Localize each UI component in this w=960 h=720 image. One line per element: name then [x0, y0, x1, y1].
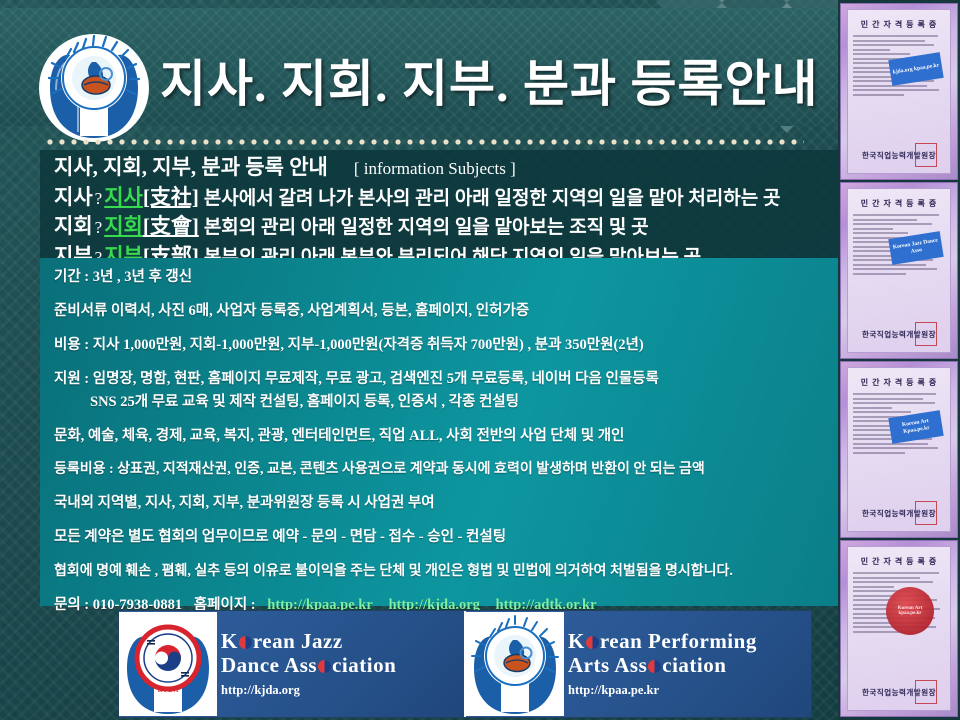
certificate-seal-icon	[915, 322, 937, 346]
bottom-logo-banner: K J D A Krean Jazz Dance Assciation http…	[118, 610, 812, 718]
detail-business-right: 국내외 지역별, 지사, 지회, 지부, 분과위원장 등록 시 사업권 부여	[54, 494, 828, 512]
kjda-line1: Krean Jazz	[221, 630, 396, 654]
definition-keyword: 지회	[104, 214, 143, 238]
definition-hanja: [支社]	[143, 185, 204, 209]
definition-question-mark: ?	[93, 218, 105, 237]
stylised-o-icon	[239, 636, 252, 649]
kpaa-line1: Krean Performing	[568, 630, 757, 654]
header-banner: 지사. 지회. 지부. 분과 등록안내	[0, 8, 840, 126]
banner-kpaa[interactable]: Krean Performing Arts Assciation http://…	[464, 611, 811, 717]
certificate-heading: 민 간 자 격 등 록 증	[853, 198, 945, 209]
kjda-line1-b: rean Jazz	[253, 629, 343, 653]
definition-hanja: [支會]	[143, 214, 204, 238]
detail-period: 기간 : 3년 , 3년 후 갱신	[54, 268, 828, 286]
certificate-heading: 민 간 자 격 등 록 증	[853, 556, 945, 567]
definition-row-jisa: 지사?지사[支社]본사에서 갈려 나가 본사의 관리 아래 일정한 지역의 일을…	[54, 183, 830, 213]
certificate-thumbnail-1[interactable]: 민 간 자 격 등 록 증 kjda.org kpaa.pe.kr 한국직업능력…	[840, 3, 958, 180]
kjda-line1-a: K	[221, 629, 238, 653]
certificate-seal-icon	[915, 143, 937, 167]
intro-block: 지사, 지회, 지부, 분과 등록 안내[ information Subjec…	[40, 150, 840, 276]
kpaa-line2-b: ciation	[662, 653, 726, 677]
definition-term: 지사	[54, 185, 93, 209]
svg-text:K J D A: K J D A	[158, 688, 179, 694]
kjda-line2-b: ciation	[332, 653, 396, 677]
kpaa-emblem-icon	[466, 612, 564, 716]
certificate-body: 민 간 자 격 등 록 증 kjda.org kpaa.pe.kr 한국직업능력…	[847, 9, 951, 174]
definition-term: 지회	[54, 214, 93, 238]
certificate-heading: 민 간 자 격 등 록 증	[853, 19, 945, 30]
stylised-o-icon	[648, 660, 661, 673]
stylised-o-icon	[586, 636, 599, 649]
kpaa-text: Krean Performing Arts Assciation http://…	[564, 630, 757, 698]
certificate-body: 민 간 자 격 등 록 증 Korean Jazz Dance Asso 한국직…	[847, 188, 951, 353]
detail-legal-notice: 협회에 명예 훼손 , 폄훼, 실추 등의 이유로 불이익을 주는 단체 및 개…	[54, 563, 828, 581]
detail-support-line1: 지원 : 임명장, 명함, 현판, 홈페이지 무료제작, 무료 광고, 검색엔진…	[54, 370, 828, 388]
stylised-o-icon	[318, 660, 331, 673]
detail-cost: 비용 : 지사 1,000만원, 지회-1,000만원, 지부-1,000만원(…	[54, 336, 828, 354]
detail-support-line2: SNS 25개 무료 교육 및 제작 컨설팅, 홈페이지 등록, 인증서 , 각…	[54, 393, 828, 411]
intro-heading: 지사, 지회, 지부, 분과 등록 안내[ information Subjec…	[54, 153, 830, 183]
kjda-text: Krean Jazz Dance Assciation http://kjda.…	[217, 630, 396, 698]
definition-row-jihoe: 지회?지회[支會]본회의 관리 아래 일정한 지역의 일을 맡아보는 조직 및 …	[54, 212, 830, 242]
certificate-red-stamp-icon: Korean Art kpaa.pe.kr	[886, 587, 934, 635]
definition-body: 본사에서 갈려 나가 본사의 관리 아래 일정한 지역의 일을 맡아 처리하는 …	[204, 188, 781, 209]
slide-canvas: 지사. 지회. 지부. 분과 등록안내 지사, 지회, 지부, 분과 등록 안내…	[0, 0, 960, 720]
certificate-seal-icon	[915, 501, 937, 525]
kjda-line2-a: Dance Ass	[221, 653, 317, 677]
association-logo-icon	[36, 32, 152, 144]
detail-process: 모든 계약은 별도 협회의 업무이므로 예약 - 문의 - 면담 - 접수 - …	[54, 528, 828, 546]
certificate-body: 민 간 자 격 등 록 증 Korean Art Kpaa.pe.kr 한국직업…	[847, 367, 951, 532]
certificate-strip: 민 간 자 격 등 록 증 kjda.org kpaa.pe.kr 한국직업능력…	[838, 0, 960, 720]
details-panel: 기간 : 3년 , 3년 후 갱신 준비서류 이력서, 사진 6매, 사업자 등…	[40, 258, 840, 606]
definition-keyword: 지사	[104, 185, 143, 209]
page-title: 지사. 지회. 지부. 분과 등록안내	[160, 44, 819, 116]
detail-registration-cost: 등록비용 : 상표권, 지적재산권, 인증, 교본, 콘텐츠 사용권으로 계약과…	[54, 461, 828, 479]
certificate-thumbnail-4[interactable]: 민 간 자 격 등 록 증 Korean Art kpaa.pe.kr 한국직업…	[840, 540, 958, 717]
certificate-seal-icon	[915, 680, 937, 704]
definition-body: 본회의 관리 아래 일정한 지역의 일을 맡아보는 조직 및 곳	[204, 217, 649, 238]
kpaa-line1-b: rean Performing	[600, 629, 757, 653]
kpaa-line2: Arts Assciation	[568, 654, 757, 678]
intro-heading-english: [ information Subjects ]	[328, 159, 516, 178]
certificate-body: 민 간 자 격 등 록 증 Korean Art kpaa.pe.kr 한국직업…	[847, 546, 951, 711]
kpaa-url[interactable]: http://kpaa.pe.kr	[568, 683, 757, 698]
banner-kjda[interactable]: K J D A Krean Jazz Dance Assciation http…	[119, 611, 464, 717]
detail-documents: 준비서류 이력서, 사진 6매, 사업자 등록증, 사업계획서, 등본, 홈페이…	[54, 302, 828, 320]
certificate-heading: 민 간 자 격 등 록 증	[853, 377, 945, 388]
definition-question-mark: ?	[93, 189, 105, 208]
kjda-line2: Dance Assciation	[221, 654, 396, 678]
kpaa-line2-a: Arts Ass	[568, 653, 647, 677]
certificate-thumbnail-2[interactable]: 민 간 자 격 등 록 증 Korean Jazz Dance Asso 한국직…	[840, 182, 958, 359]
kjda-url[interactable]: http://kjda.org	[221, 683, 396, 698]
certificate-thumbnail-3[interactable]: 민 간 자 격 등 록 증 Korean Art Kpaa.pe.kr 한국직업…	[840, 361, 958, 538]
dotted-divider	[44, 138, 804, 146]
intro-heading-korean: 지사, 지회, 지부, 분과 등록 안내	[54, 155, 328, 179]
detail-fields: 문화, 예술, 체육, 경제, 교육, 복지, 관광, 엔터테인먼트, 직업 A…	[54, 427, 828, 445]
kpaa-line1-a: K	[568, 629, 585, 653]
kjda-emblem-icon: K J D A	[119, 612, 217, 716]
